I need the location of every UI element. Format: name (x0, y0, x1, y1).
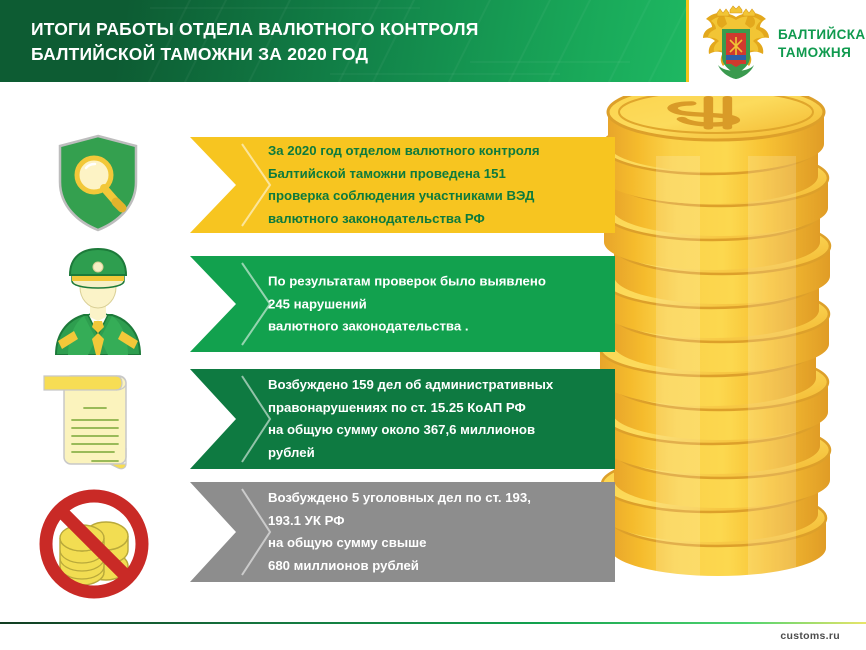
customs-officer-icon (38, 243, 158, 355)
fact-row-1: За 2020 год отделом валютного контроля Б… (190, 137, 615, 233)
fact-row-2-text: По результатам проверок было выявлено 24… (268, 270, 598, 338)
brand-logo: БАЛТИЙСКАЯ ТАМОЖНЯ (692, 0, 866, 82)
row-icon-2 (38, 243, 158, 353)
fact-row-4: Возбуждено 5 уголовных дел по ст. 193, 1… (190, 482, 615, 582)
infographic-page: ИТОГИ РАБОТЫ ОТДЕЛА ВАЛЮТНОГО КОНТРОЛЯ Б… (0, 0, 866, 650)
header-bar: ИТОГИ РАБОТЫ ОТДЕЛА ВАЛЮТНОГО КОНТРОЛЯ Б… (0, 0, 688, 82)
row-icon-3 (38, 360, 158, 470)
no-money-prohibition-icon (30, 488, 160, 600)
fact-row-3: Возбуждено 159 дел об административных п… (190, 369, 615, 469)
document-scroll-icon (38, 360, 158, 472)
shield-magnifier-icon (38, 128, 158, 238)
fact-row-3-text: Возбуждено 159 дел об административных п… (268, 374, 598, 464)
logo-text: БАЛТИЙСКАЯ ТАМОЖНЯ (778, 26, 866, 62)
page-title: ИТОГИ РАБОТЫ ОТДЕЛА ВАЛЮТНОГО КОНТРОЛЯ Б… (31, 17, 651, 67)
fact-row-4-text: Возбуждено 5 уголовных дел по ст. 193, 1… (268, 487, 598, 577)
row-icon-1 (38, 128, 158, 238)
fact-row-2: По результатам проверок было выявлено 24… (190, 256, 615, 352)
gold-coin-stack-icon (598, 96, 866, 621)
footer-divider (0, 622, 866, 624)
fact-row-1-text: За 2020 год отделом валютного контроля Б… (268, 140, 598, 230)
footer-url: customs.ru (780, 630, 840, 642)
header-accent-line (686, 0, 689, 82)
russian-customs-coat-of-arms-icon (700, 5, 772, 79)
row-icon-4 (30, 488, 150, 598)
